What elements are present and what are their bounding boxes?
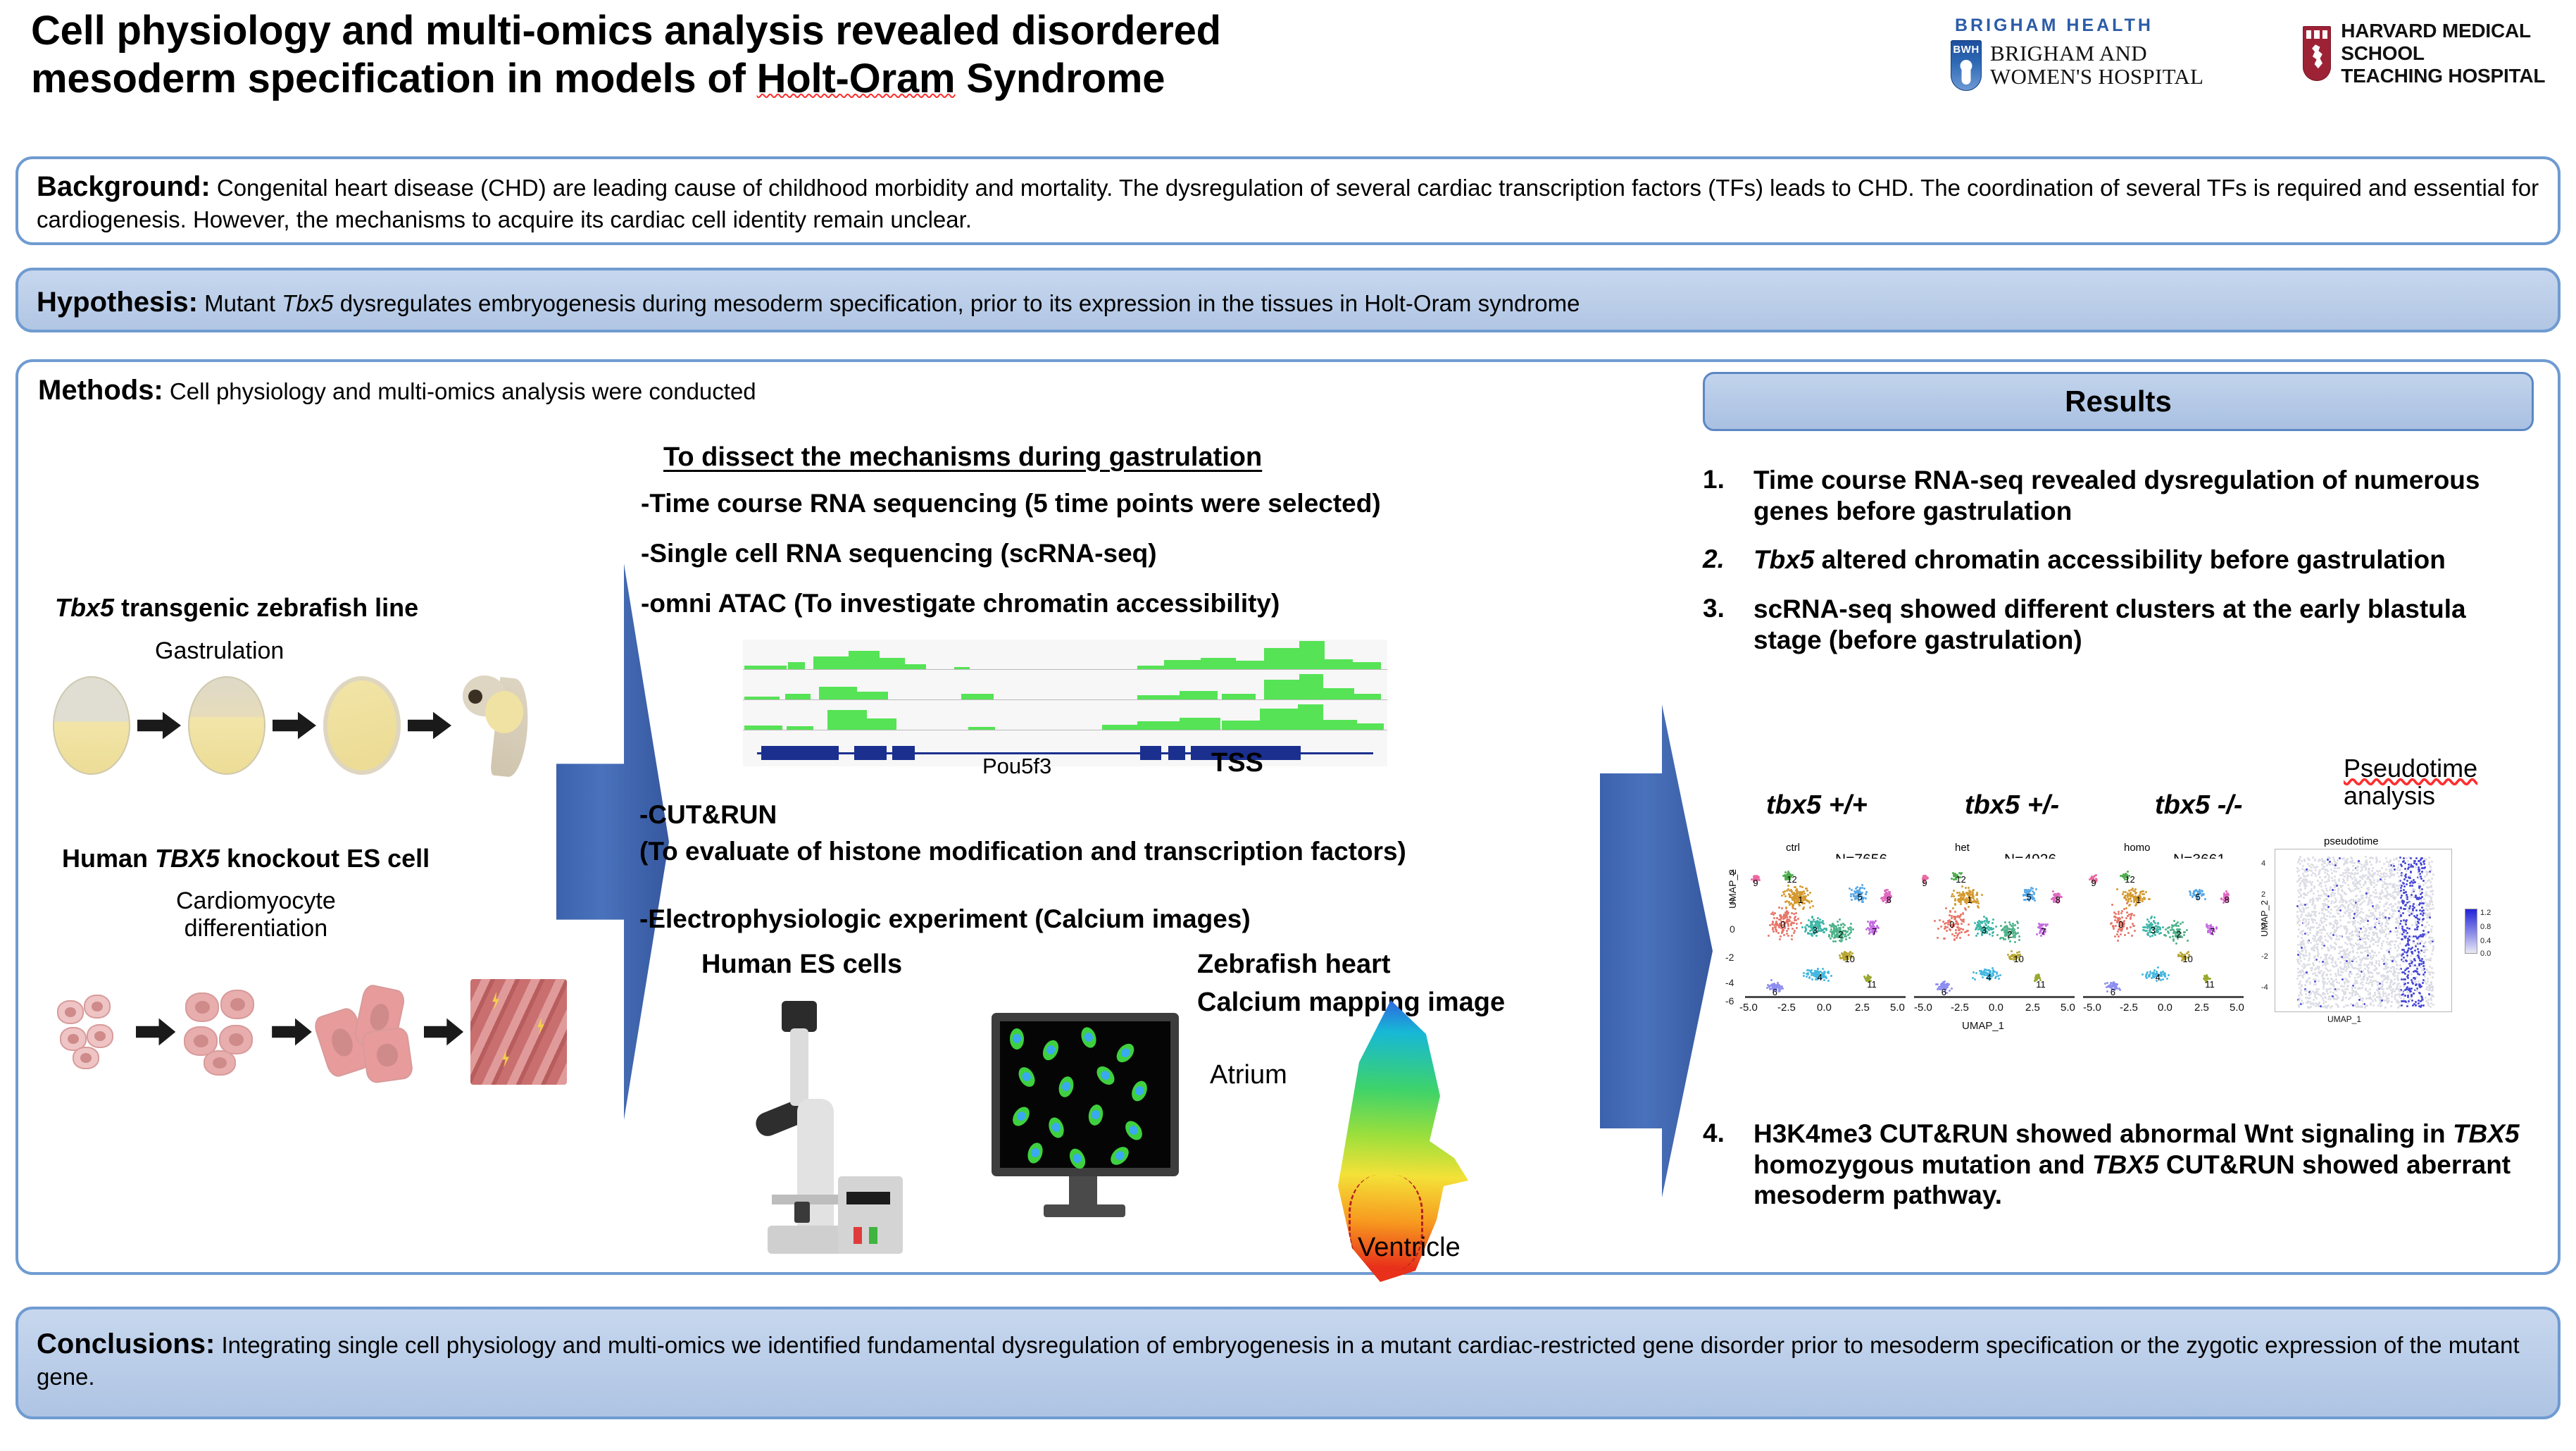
logo-group: BRIGHAM HEALTH BWH BRIGHAM AND WOMEN'S H… — [1951, 15, 2556, 114]
methods-body: Cell physiology and multi-omics analysis… — [163, 378, 756, 404]
embryo-stage-3-icon — [323, 676, 401, 775]
method-bullet-omniatac: -omni ATAC (To investigate chromatin acc… — [641, 589, 1280, 618]
embryo-stage-diagram — [53, 673, 560, 778]
umap-caption-homo: homo — [2124, 842, 2151, 854]
pseudotime-analysis-title: Pseudotime analysis — [2344, 755, 2477, 810]
conclusions-label: Conclusions: — [37, 1328, 215, 1359]
umap-panel-title-wt: tbx5 +/+ — [1766, 790, 1868, 821]
result-item-2: 2. Tbx5 altered chromatin accessibility … — [1703, 544, 2541, 575]
hms-name: HARVARD MEDICAL SCHOOL TEACHING HOSPITAL — [2341, 20, 2556, 88]
tss-label: TSS — [1211, 748, 1263, 778]
bwh-mark-label: BWH — [1951, 44, 1982, 56]
hms-name-line-2: TEACHING HOSPITAL — [2341, 65, 2556, 87]
result-text: scRNA-seq showed different clusters at t… — [1753, 594, 2541, 655]
calcium-mapping-label: Calcium mapping image — [1197, 988, 1505, 1018]
results-heading: Results — [1703, 372, 2534, 431]
bwh-name-line-2: WOMEN'S HOSPITAL — [1990, 66, 2203, 89]
embryo-stage-1-icon — [53, 676, 130, 775]
es-cell-gene: TBX5 — [155, 844, 220, 873]
result-gene: Tbx5 — [1753, 545, 1814, 574]
conclusions-body: Integrating single cell physiology and m… — [37, 1332, 2520, 1390]
gastrulation-label: Gastrulation — [155, 637, 284, 665]
arrow-right-icon — [137, 709, 181, 742]
hypothesis-section: Hypothesis: Mutant Tbx5 dysregulates emb… — [15, 268, 2561, 332]
genome-browser-track — [743, 640, 1387, 766]
background-body: Congenital heart disease (CHD) are leadi… — [37, 175, 2539, 232]
arrow-right-icon — [424, 1016, 464, 1048]
monitor-icon — [992, 1013, 1179, 1224]
poster-header: Cell physiology and multi-omics analysis… — [0, 0, 2576, 134]
method-bullet-scrnaseq: -Single cell RNA sequencing (scRNA-seq) — [641, 539, 1157, 568]
poster-canvas: Cell physiology and multi-omics analysis… — [0, 0, 2576, 1451]
gene-model-track — [743, 730, 1387, 767]
cardiomyocyte-stage-diagram — [53, 976, 567, 1088]
hypothesis-body-b: dysregulates embryogenesis during mesode… — [334, 290, 1580, 316]
method-bullet-electrophysiology: -Electrophysiologic experiment (Calcium … — [639, 904, 1251, 934]
pseudotime-legend-colorbar — [2465, 909, 2477, 954]
result-number: 3. — [1703, 594, 1753, 655]
umap-caption-ctrl: ctrl — [1786, 842, 1800, 854]
umap-panel-title-homo: tbx5 -/- — [2155, 790, 2243, 821]
umap-panel-homo: 0123456789101112 — [2083, 859, 2244, 997]
gene-label-pou5f3: Pou5f3 — [982, 754, 1051, 779]
zebrafish-title: transgenic zebrafish line — [114, 593, 418, 622]
background-label: Background: — [37, 171, 211, 202]
es-cell-post: knockout ES cell — [220, 844, 430, 873]
results-list: 1. Time course RNA-seq revealed dysregul… — [1703, 465, 2541, 673]
methods-label: Methods: — [38, 375, 163, 406]
pseudotime-title-line-1: Pseudotime — [2344, 755, 2477, 783]
pseudotime-title-line-2: analysis — [2344, 783, 2477, 810]
title-line-1: Cell physiology and multi-omics analysis… — [31, 8, 1221, 54]
cardiomyocyte-differentiation-label: Cardiomyocyte differentiation — [176, 888, 336, 942]
hypothesis-text: Hypothesis: Mutant Tbx5 dysregulates emb… — [18, 270, 2558, 320]
bwh-logo: BRIGHAM HEALTH BWH BRIGHAM AND WOMEN'S H… — [1951, 15, 2203, 91]
dissect-mechanisms-heading: To dissect the mechanisms during gastrul… — [663, 442, 1262, 473]
result-text: Tbx5 altered chromatin accessibility bef… — [1753, 544, 2446, 575]
result-number: 4. — [1703, 1119, 1753, 1211]
method-bullet-cutandrun-sub: (To evaluate of histone modification and… — [639, 837, 1406, 866]
legend-tick-4: 0.0 — [2480, 949, 2491, 958]
cardiomyocyte-line-1: Cardiomyocyte — [176, 888, 336, 915]
ventricle-label: Ventricle — [1358, 1233, 1461, 1263]
bwh-name-line-1: BRIGHAM AND — [1990, 42, 2203, 66]
arrow-right-icon — [273, 709, 316, 742]
title-line-2-c: Syndrome — [955, 56, 1165, 101]
conclusions-section: Conclusions: Integrating single cell phy… — [15, 1307, 2561, 1419]
human-es-cells-label: Human ES cells — [701, 949, 902, 980]
umap-y-axis-label: UMAP_2 — [1727, 869, 1738, 909]
zebrafish-line-label: Tbx5 transgenic zebrafish line — [55, 593, 418, 623]
zebrafish-heart-label: Zebrafish heart — [1197, 949, 1391, 980]
cardiomyocyte-line-2: differentiation — [176, 915, 336, 942]
pseudotime-y-axis-label: UMAP_2 — [2259, 900, 2270, 937]
title-line-2-b: Holt-Oram — [757, 56, 956, 101]
hypothesis-body-a: Mutant — [198, 290, 282, 316]
result4-part-1: H3K4me3 CUT&RUN showed abnormal Wnt sign… — [1753, 1119, 2453, 1148]
result-text: H3K4me3 CUT&RUN showed abnormal Wnt sign… — [1753, 1119, 2541, 1211]
arrow-right-icon — [272, 1016, 312, 1048]
result-item-4: 4. H3K4me3 CUT&RUN showed abnormal Wnt s… — [1703, 1119, 2541, 1211]
result-body: altered chromatin accessibility before g… — [1814, 545, 2446, 574]
zebrafish-larva-icon — [458, 673, 543, 778]
hypothesis-label: Hypothesis: — [37, 287, 198, 318]
method-bullet-cutandrun: -CUT&RUN — [639, 800, 777, 830]
es-cell-label: Human TBX5 knockout ES cell — [62, 844, 430, 873]
hypothesis-gene: Tbx5 — [282, 290, 333, 316]
mesoderm-cell-cluster-icon — [182, 990, 265, 1074]
microscope-icon — [761, 993, 993, 1254]
atac-track-1 — [743, 640, 1387, 670]
page-title: Cell physiology and multi-omics analysis… — [31, 7, 1876, 104]
cardiac-muscle-tissue-icon — [470, 979, 567, 1085]
harvard-medical-school-logo: HARVARD MEDICAL SCHOOL TEACHING HOSPITAL — [2303, 20, 2556, 88]
atrium-label: Atrium — [1210, 1060, 1287, 1090]
umap-x-axis-label: UMAP_1 — [1962, 1020, 2004, 1032]
method-bullet-timecourse-rnaseq: -Time course RNA sequencing (5 time poin… — [641, 489, 1381, 518]
umap-panel-ctrl: 0123456789101112 — [1745, 859, 1906, 997]
result-item-3: 3. scRNA-seq showed different clusters a… — [1703, 594, 2541, 655]
arrow-right-icon — [408, 709, 451, 742]
legend-tick-1: 1.2 — [2480, 909, 2491, 917]
pseudotime-caption: pseudotime — [2324, 835, 2379, 847]
cardiomyocyte-icon — [319, 983, 417, 1081]
legend-tick-2: 0.8 — [2480, 923, 2491, 931]
harvard-shield-icon — [2303, 26, 2331, 81]
umap-panel-het: 0123456789101112 — [1914, 859, 2075, 997]
result-number: 1. — [1703, 465, 1753, 526]
umap-scatter-panels: 4 2 0 -2 -4 -6 ctrl N=7656 het N=4926 ho… — [1739, 842, 2246, 1018]
fluorescence-image — [992, 1013, 1179, 1176]
result4-gene-2: TBX5 — [2092, 1150, 2159, 1179]
pseudotime-x-axis-label: UMAP_1 — [2327, 1014, 2361, 1024]
bwh-shield-icon: BWH — [1951, 40, 1982, 91]
result4-gene-1: TBX5 — [2453, 1119, 2520, 1148]
background-text: Background: Congenital heart disease (CH… — [18, 159, 2558, 235]
pseudotime-umap-panel: 420-2-4 — [2275, 849, 2452, 1012]
atac-track-2 — [743, 670, 1387, 700]
result4-part-2: homozygous mutation and — [1753, 1150, 2092, 1179]
es-cell-cluster-icon — [53, 993, 129, 1071]
title-line-2-a: mesoderm specification in models of — [31, 56, 757, 101]
bwh-name: BRIGHAM AND WOMEN'S HOSPITAL — [1990, 42, 2203, 88]
zebrafish-gene: Tbx5 — [55, 593, 114, 622]
conclusions-text: Conclusions: Integrating single cell phy… — [18, 1309, 2558, 1392]
methods-heading: Methods: Cell physiology and multi-omics… — [38, 375, 756, 406]
result-item-1: 1. Time course RNA-seq revealed dysregul… — [1703, 465, 2541, 526]
umap-panel-title-het: tbx5 +/- — [1965, 790, 2059, 821]
atac-track-3 — [743, 700, 1387, 730]
result-number: 2. — [1703, 544, 1753, 575]
legend-tick-3: 0.4 — [2480, 937, 2491, 945]
umap-caption-het: het — [1955, 842, 1970, 854]
embryo-stage-2-icon — [188, 676, 265, 775]
background-section: Background: Congenital heart disease (CH… — [15, 156, 2561, 245]
result-text: Time course RNA-seq revealed dysregulati… — [1753, 465, 2541, 526]
hms-name-line-1: HARVARD MEDICAL SCHOOL — [2341, 20, 2556, 65]
es-cell-pre: Human — [62, 844, 155, 873]
arrow-right-icon — [136, 1016, 176, 1048]
brigham-health-wordmark: BRIGHAM HEALTH — [1955, 15, 2203, 36]
